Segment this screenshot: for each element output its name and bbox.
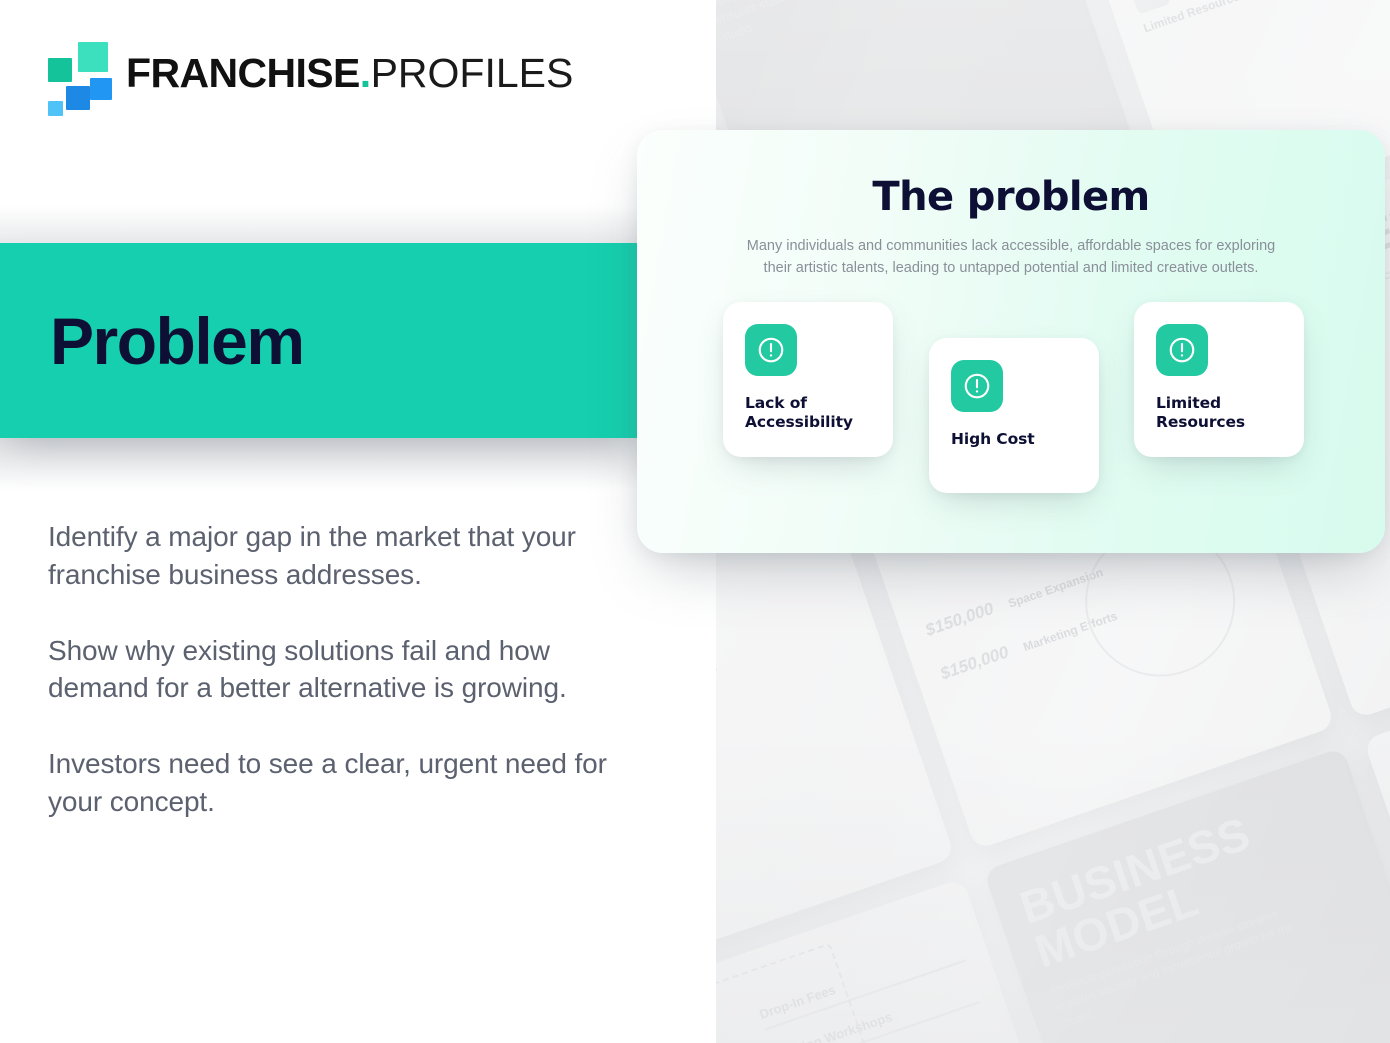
copy-paragraph-1: Identify a major gap in the market that … <box>48 518 614 594</box>
problem-item-label: Limited Resources <box>1156 394 1284 434</box>
problem-item-card[interactable]: Limited Resources <box>1134 302 1304 457</box>
problem-item-label: High Cost <box>951 430 1079 450</box>
hourglass-icon <box>1128 0 1171 15</box>
brand-dot: . <box>360 50 371 96</box>
left-content-column: FRANCHISE.PROFILES Problem Identify a ma… <box>0 0 716 1043</box>
problem-item-label: Lack of Accessibility <box>745 394 873 434</box>
problem-item-group: Lack of Accessibility High Cost <box>637 302 1385 502</box>
brand-name-bold: FRANCHISE <box>126 50 360 96</box>
bg-stat-value: $150,000 <box>938 642 1012 684</box>
logo-squares-icon <box>48 42 110 104</box>
alert-circle-icon <box>745 324 797 376</box>
problem-preview-card: The problem Many individuals and communi… <box>637 130 1385 553</box>
bg-mini-item: Limited Resources <box>1128 0 1251 37</box>
bg-stat-value: $150,000 <box>923 599 997 641</box>
bg-dash-box <box>715 943 866 1043</box>
section-banner: Problem <box>0 243 637 438</box>
page-title: Problem <box>50 308 304 374</box>
preview-card-title: The problem <box>637 174 1385 220</box>
problem-item-card[interactable]: Lack of Accessibility <box>723 302 893 457</box>
banner-top-shadow <box>0 196 660 244</box>
bg-stat-row: 20 Community Partnerships <box>715 600 852 740</box>
body-copy: Identify a major gap in the market that … <box>48 518 614 821</box>
slide-canvas: $ Drop-In Fees Session Workshops Commiss… <box>0 0 1390 1043</box>
alert-circle-icon <box>1156 324 1208 376</box>
alert-circle-icon <box>951 360 1003 412</box>
problem-item-card[interactable]: High Cost <box>929 338 1099 493</box>
brand-wordmark: FRANCHISE.PROFILES <box>126 53 573 94</box>
banner-bottom-shadow <box>0 438 660 508</box>
copy-paragraph-3: Investors need to see a clear, urgent ne… <box>48 745 614 821</box>
copy-paragraph-2: Show why existing solutions fail and how… <box>48 632 614 708</box>
bg-slide-subtitle: Revenue generation through diverse strea… <box>715 0 966 46</box>
brand-name-thin: PROFILES <box>371 50 574 96</box>
brand-logo: FRANCHISE.PROFILES <box>48 42 573 104</box>
preview-card-subtitle: Many individuals and communities lack ac… <box>741 236 1281 280</box>
